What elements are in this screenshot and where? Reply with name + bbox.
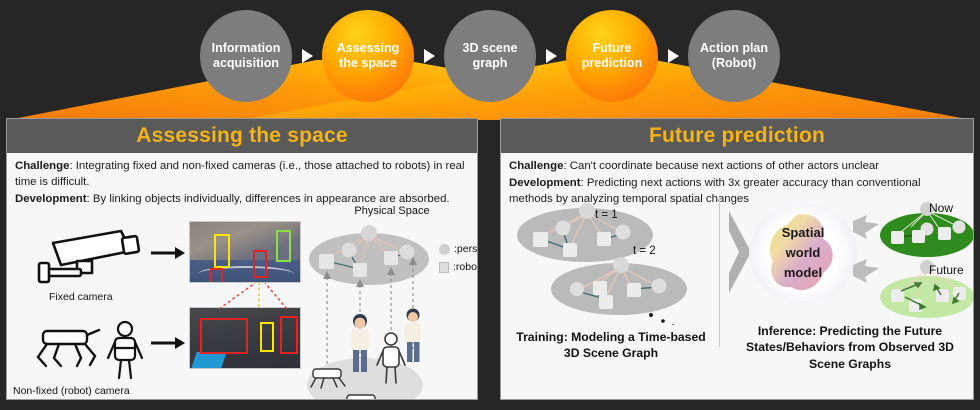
nonfixed-camera-photo	[189, 307, 301, 369]
left-figure: Physical Space Fixed camera	[7, 209, 477, 399]
pipeline-separator-2	[414, 49, 444, 63]
arrow-to-photo-top-icon	[151, 245, 185, 261]
association-lines	[189, 279, 303, 311]
triangle-right-icon	[302, 49, 313, 63]
arrow-to-future-icon	[853, 259, 881, 283]
panel-right-title: Future prediction	[649, 124, 825, 148]
legend-robot-label: :robot	[453, 261, 477, 273]
pipeline-separator-4	[658, 49, 688, 63]
panel-left-header: Assessing the space	[7, 119, 477, 153]
bbox-green	[276, 230, 291, 262]
person-figure-2	[405, 309, 421, 363]
person-circle-icon	[439, 244, 450, 255]
pipeline-separator-1	[292, 49, 322, 63]
right-development-label: Development	[509, 177, 581, 189]
pipeline-separator-3	[536, 49, 566, 63]
pipeline-stage-label: Assessing the space	[326, 41, 410, 72]
bbox-yellow-2	[260, 322, 274, 352]
now-scene-graph	[879, 201, 973, 263]
time-label-1: t = 1	[595, 209, 618, 221]
robot-square-icon	[439, 262, 449, 273]
pipeline-stage-assessing-the-space[interactable]: Assessing the space	[322, 10, 414, 102]
panel-left-body: Challenge: Integrating fixed and non-fix…	[7, 153, 477, 399]
robot-dog-icon	[29, 319, 159, 381]
pipeline-stage-information-acquisition[interactable]: Information acquisition	[200, 10, 292, 102]
right-challenge-paragraph: Challenge: Can't coordinate because next…	[501, 153, 973, 174]
right-figure: t = 1 t = 2 Training: Modeling a Time-ba…	[501, 197, 973, 399]
bbox-red-3	[200, 318, 248, 354]
pipeline-stage-label: Future prediction	[570, 41, 654, 72]
fixed-camera-icon	[31, 225, 151, 287]
pipeline-stage-action-plan[interactable]: Action plan (Robot)	[688, 10, 780, 102]
left-challenge-text: : Integrating fixed and non-fixed camera…	[15, 160, 465, 188]
panel-left-title: Assessing the space	[136, 124, 348, 148]
pipeline-stage-label: Information acquisition	[204, 41, 288, 72]
future-label: Future	[929, 263, 964, 277]
robot-dog-figure-2	[345, 395, 379, 399]
left-development-text: : By linking objects individually, diffe…	[87, 193, 450, 205]
pipeline-stage-future-prediction[interactable]: Future prediction	[566, 10, 658, 102]
right-challenge-label: Challenge	[509, 160, 563, 172]
bbox-yellow	[214, 234, 230, 268]
left-development-label: Development	[15, 193, 87, 205]
inference-caption: Inference: Predicting the Future States/…	[727, 323, 973, 372]
panel-right-body: Challenge: Can't coordinate because next…	[501, 153, 973, 399]
world-model-line-2: world	[749, 245, 857, 260]
left-challenge-paragraph: Challenge: Integrating fixed and non-fix…	[7, 153, 477, 190]
nonfixed-camera-caption: Non-fixed (robot) camera	[13, 385, 130, 397]
legend-robot: :robot	[439, 261, 477, 273]
pipeline-stage-3d-scene-graph[interactable]: 3D scene graph	[444, 10, 536, 102]
training-caption: Training: Modeling a Time-based 3D Scene…	[511, 329, 711, 362]
legend-person: :person	[439, 243, 477, 255]
pipeline-stage-label: Action plan (Robot)	[692, 41, 776, 72]
world-model-line-3: model	[749, 265, 857, 280]
triangle-right-icon	[546, 49, 557, 63]
legend-person-label: :person	[454, 243, 477, 255]
pipeline-stage-label: 3D scene graph	[448, 41, 532, 72]
left-challenge-label: Challenge	[15, 160, 69, 172]
triangle-right-icon	[424, 49, 435, 63]
figure-divider	[719, 197, 720, 347]
triangle-right-icon	[668, 49, 679, 63]
panel-future-prediction: Future prediction Challenge: Can't coord…	[500, 118, 974, 400]
fixed-camera-photo	[189, 221, 301, 283]
fixed-camera-caption: Fixed camera	[49, 291, 113, 303]
physical-space-diagram	[303, 219, 443, 399]
panel-right-header: Future prediction	[501, 119, 973, 153]
right-challenge-text: : Can't coordinate because next actions …	[563, 160, 879, 172]
time-label-2: t = 2	[633, 245, 656, 257]
world-model-line-1: Spatial	[749, 225, 857, 240]
panel-assessing-the-space: Assessing the space Challenge: Integrati…	[6, 118, 478, 400]
bbox-red-4	[280, 316, 298, 354]
physical-space-label: Physical Space	[307, 205, 477, 217]
arrow-to-photo-bottom-icon	[151, 335, 185, 351]
pipeline-flow: Information acquisition Assessing the sp…	[0, 0, 980, 112]
now-label: Now	[929, 201, 953, 215]
arrow-to-now-icon	[853, 215, 881, 239]
bbox-red-1	[253, 250, 267, 278]
